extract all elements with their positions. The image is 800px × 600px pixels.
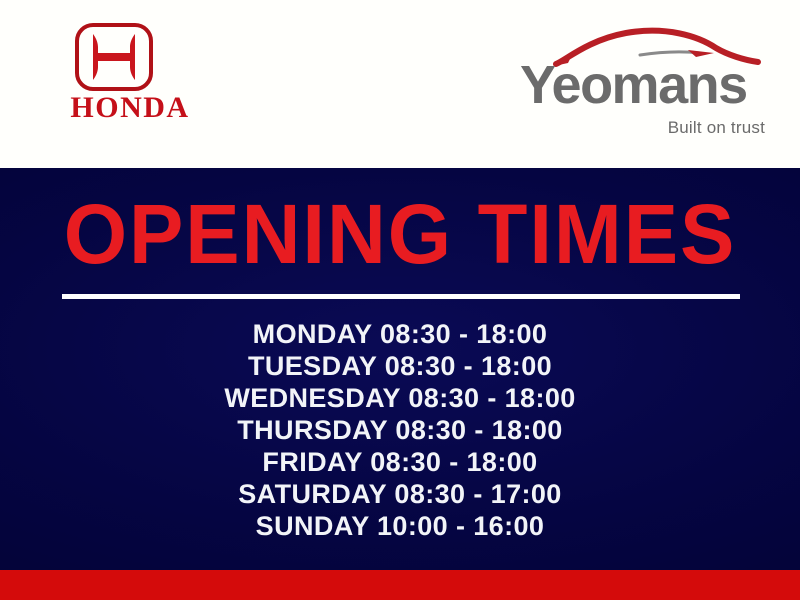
- list-item: FRIDAY 08:30 - 18:00: [0, 446, 800, 478]
- list-item: THURSDAY 08:30 - 18:00: [0, 414, 800, 446]
- yeomans-tagline: Built on trust: [668, 118, 765, 138]
- footer-bar: [0, 570, 800, 600]
- honda-wordmark: HONDA: [45, 93, 215, 123]
- list-item: SATURDAY 08:30 - 17:00: [0, 478, 800, 510]
- opening-times-poster: HONDA Yeomans Built on trust OPENI: [0, 0, 800, 600]
- list-item: WEDNESDAY 08:30 - 18:00: [0, 382, 800, 414]
- list-item: MONDAY 08:30 - 18:00: [0, 318, 800, 350]
- honda-logo: HONDA: [45, 22, 215, 127]
- header-band: HONDA Yeomans Built on trust: [0, 0, 800, 168]
- yeomans-wordmark: Yeomans: [520, 58, 768, 112]
- list-item: TUESDAY 08:30 - 18:00: [0, 350, 800, 382]
- page-title: OPENING TIMES: [12, 192, 788, 276]
- title-divider: [62, 294, 740, 299]
- opening-hours-list: MONDAY 08:30 - 18:00 TUESDAY 08:30 - 18:…: [0, 318, 800, 542]
- list-item: SUNDAY 10:00 - 16:00: [0, 510, 800, 542]
- yeomans-logo: Yeomans Built on trust: [520, 22, 768, 130]
- honda-h-emblem-icon: [73, 22, 155, 92]
